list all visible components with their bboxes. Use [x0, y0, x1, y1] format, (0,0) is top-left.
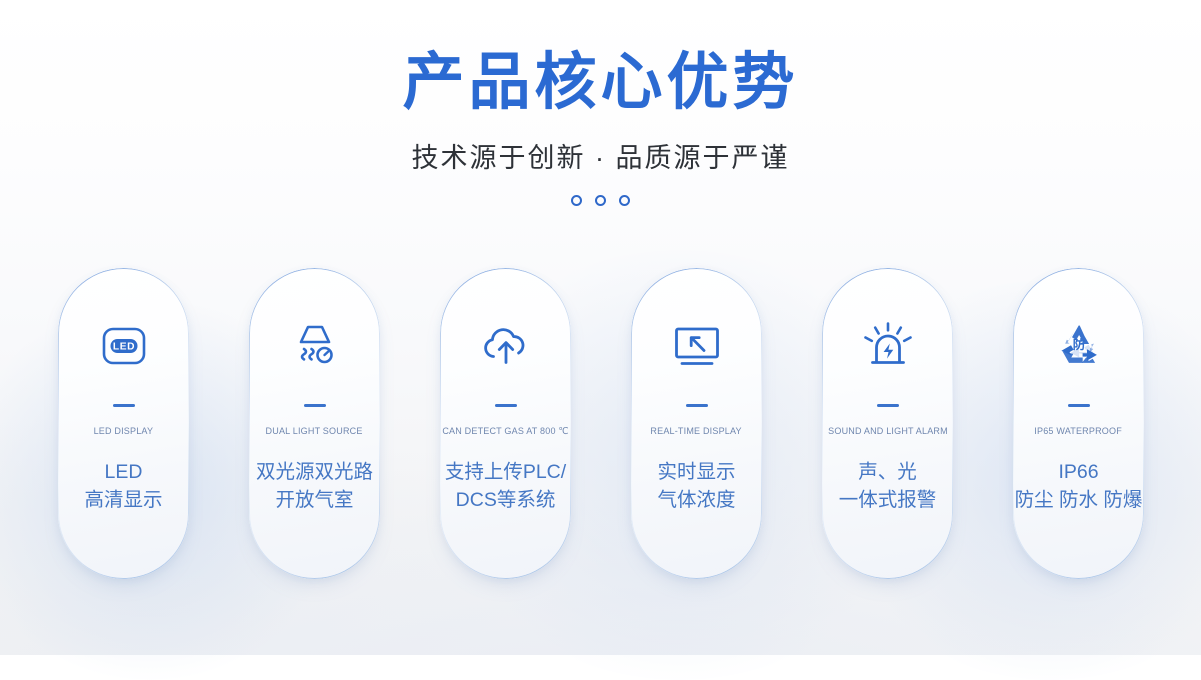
card-headline-line2: DCS等系统 — [445, 487, 566, 515]
card-headline-line1: 支持上传PLC/ — [445, 461, 566, 483]
monitor-display-icon — [667, 316, 727, 376]
cloud-upload-icon — [476, 316, 536, 376]
card-headline-line1: LED — [105, 461, 143, 483]
feature-card-list: LED LED DISPLAYLED高清显示 DUAL LIGHT SOURCE… — [0, 268, 1201, 588]
card-headline: 实时显示气体浓度 — [657, 459, 735, 514]
card-headline: LED高清显示 — [84, 459, 162, 514]
led-display-icon: LED — [94, 316, 154, 376]
feature-card-5[interactable]: SOUND AND LIGHT ALARM声、光一体式报警 — [822, 268, 953, 579]
page-title: 产品核心优势 — [0, 52, 1201, 114]
card-caption: REAL-TIME DISPLAY — [651, 426, 742, 437]
card-headline: IP66防尘 防水 防爆 — [1015, 459, 1143, 514]
feature-card-1[interactable]: LED LED DISPLAYLED高清显示 — [58, 268, 189, 579]
card-divider — [1068, 404, 1090, 407]
card-caption: LED DISPLAY — [94, 426, 154, 437]
card-caption: SOUND AND LIGHT ALARM — [828, 426, 948, 437]
card-headline-line2: 高清显示 — [84, 487, 162, 515]
svg-text:防: 防 — [1072, 337, 1085, 352]
feature-card-2[interactable]: DUAL LIGHT SOURCE双光源双光路开放气室 — [249, 268, 380, 579]
dot-2 — [595, 195, 606, 206]
card-headline-line2: 开放气室 — [256, 487, 373, 515]
card-headline: 声、光一体式报警 — [839, 459, 937, 514]
card-divider — [495, 404, 517, 407]
feature-card-4[interactable]: REAL-TIME DISPLAY实时显示气体浓度 — [631, 268, 762, 579]
card-divider — [686, 404, 708, 407]
feature-card-3[interactable]: CAN DETECT GAS AT 800 ℃支持上传PLC/DCS等系统 — [440, 268, 571, 579]
card-divider — [113, 404, 135, 407]
feature-card-6[interactable]: 防 IP65 WATERPROOFIP66防尘 防水 防爆 — [1013, 268, 1144, 579]
waterproof-recycle-icon: 防 — [1049, 316, 1109, 376]
decorative-dots — [0, 195, 1201, 206]
card-divider — [304, 404, 326, 407]
card-headline: 双光源双光路开放气室 — [256, 459, 373, 514]
page-subtitle: 技术源于创新 · 品质源于严谨 — [0, 136, 1201, 175]
page-header: 产品核心优势 技术源于创新 · 品质源于严谨 — [0, 52, 1201, 206]
dot-3 — [619, 195, 630, 206]
dot-1 — [571, 195, 582, 206]
card-caption: IP65 WATERPROOF — [1035, 426, 1123, 437]
dual-light-source-icon — [285, 316, 345, 376]
card-caption: DUAL LIGHT SOURCE — [266, 426, 363, 437]
card-headline: 支持上传PLC/DCS等系统 — [445, 459, 566, 514]
card-headline-line2: 一体式报警 — [839, 487, 937, 515]
card-headline-line1: IP66 — [1058, 461, 1098, 483]
card-caption: CAN DETECT GAS AT 800 ℃ — [442, 426, 568, 437]
page-background: 产品核心优势 技术源于创新 · 品质源于严谨 LED LED DISPLAYLE… — [0, 0, 1201, 655]
card-headline-line2: 气体浓度 — [657, 487, 735, 515]
svg-text:LED: LED — [112, 341, 134, 352]
card-headline-line1: 双光源双光路 — [256, 461, 373, 483]
alarm-beacon-icon — [858, 316, 918, 376]
card-headline-line2: 防尘 防水 防爆 — [1015, 487, 1143, 515]
card-headline-line1: 声、光 — [858, 461, 917, 483]
card-divider — [877, 404, 899, 407]
card-headline-line1: 实时显示 — [657, 461, 735, 483]
